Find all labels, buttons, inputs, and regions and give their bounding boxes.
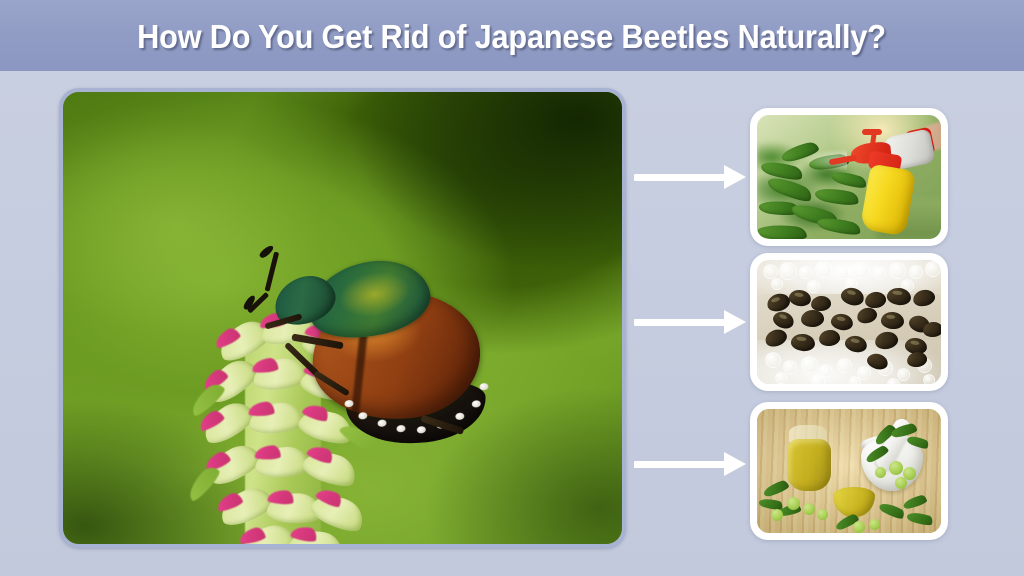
arrow-head <box>724 310 746 334</box>
page-title: How Do You Get Rid of Japanese Beetles N… <box>138 20 887 53</box>
soap-bubble <box>925 261 941 277</box>
thumbnail-image <box>757 260 941 384</box>
neem-oil-thumbnail[interactable] <box>750 402 948 540</box>
neem-berry <box>787 497 800 510</box>
soap-bubble <box>835 265 849 279</box>
beetle-antenna <box>265 252 280 292</box>
arrow-shaft <box>634 174 726 181</box>
soap-bubble <box>799 266 812 279</box>
slide-root: How Do You Get Rid of Japanese Beetles N… <box>0 0 1024 576</box>
soap-bubble <box>811 374 825 384</box>
soap-bubble <box>873 266 886 279</box>
soap-bubble <box>889 262 906 279</box>
neem-berry <box>853 521 865 533</box>
thumbnail-image <box>757 115 941 239</box>
soap-bubble <box>853 262 869 278</box>
soapy-water-thumbnail[interactable] <box>750 253 948 391</box>
neem-berry <box>875 467 886 478</box>
soap-bubble <box>779 262 797 280</box>
soap-bubble <box>897 368 910 381</box>
soap-bubble <box>837 358 852 373</box>
neem-berry <box>803 503 815 515</box>
soap-bubble <box>783 360 797 374</box>
arrow-to-soapy-water-method <box>634 316 746 328</box>
neem-berry <box>869 519 880 530</box>
arrow-head <box>724 452 746 476</box>
japanese-beetle <box>244 215 533 479</box>
neem-berry <box>817 509 828 520</box>
arrow-head <box>724 165 746 189</box>
spray-bottle-thumbnail[interactable] <box>750 108 948 246</box>
arrow-to-spray-method <box>634 171 746 183</box>
header-bar: How Do You Get Rid of Japanese Beetles N… <box>0 0 1024 71</box>
soap-bubble <box>909 265 923 279</box>
soap-bubble <box>775 372 787 384</box>
main-beetle-photo[interactable] <box>59 88 626 548</box>
soap-bubble <box>763 264 778 279</box>
soap-bubble <box>765 352 781 368</box>
neem-berry <box>889 461 903 475</box>
drowned-beetle <box>922 321 941 338</box>
neem-berry <box>771 509 783 521</box>
soap-bubble <box>849 376 861 384</box>
arrow-to-neem-oil-method <box>634 458 746 470</box>
soap-bubble <box>771 278 783 290</box>
arrow-shaft <box>634 319 726 326</box>
soap-bubble <box>815 261 832 278</box>
neem-oil-jug <box>787 439 831 491</box>
soap-bubble <box>887 378 900 384</box>
thumbnail-image <box>757 409 941 533</box>
soap-bubble <box>923 374 935 384</box>
arrow-shaft <box>634 461 726 468</box>
neem-berry <box>895 477 907 489</box>
soap-bubble <box>807 280 820 293</box>
soap-bubble <box>801 356 818 373</box>
beetle-white-tuft <box>479 383 489 391</box>
